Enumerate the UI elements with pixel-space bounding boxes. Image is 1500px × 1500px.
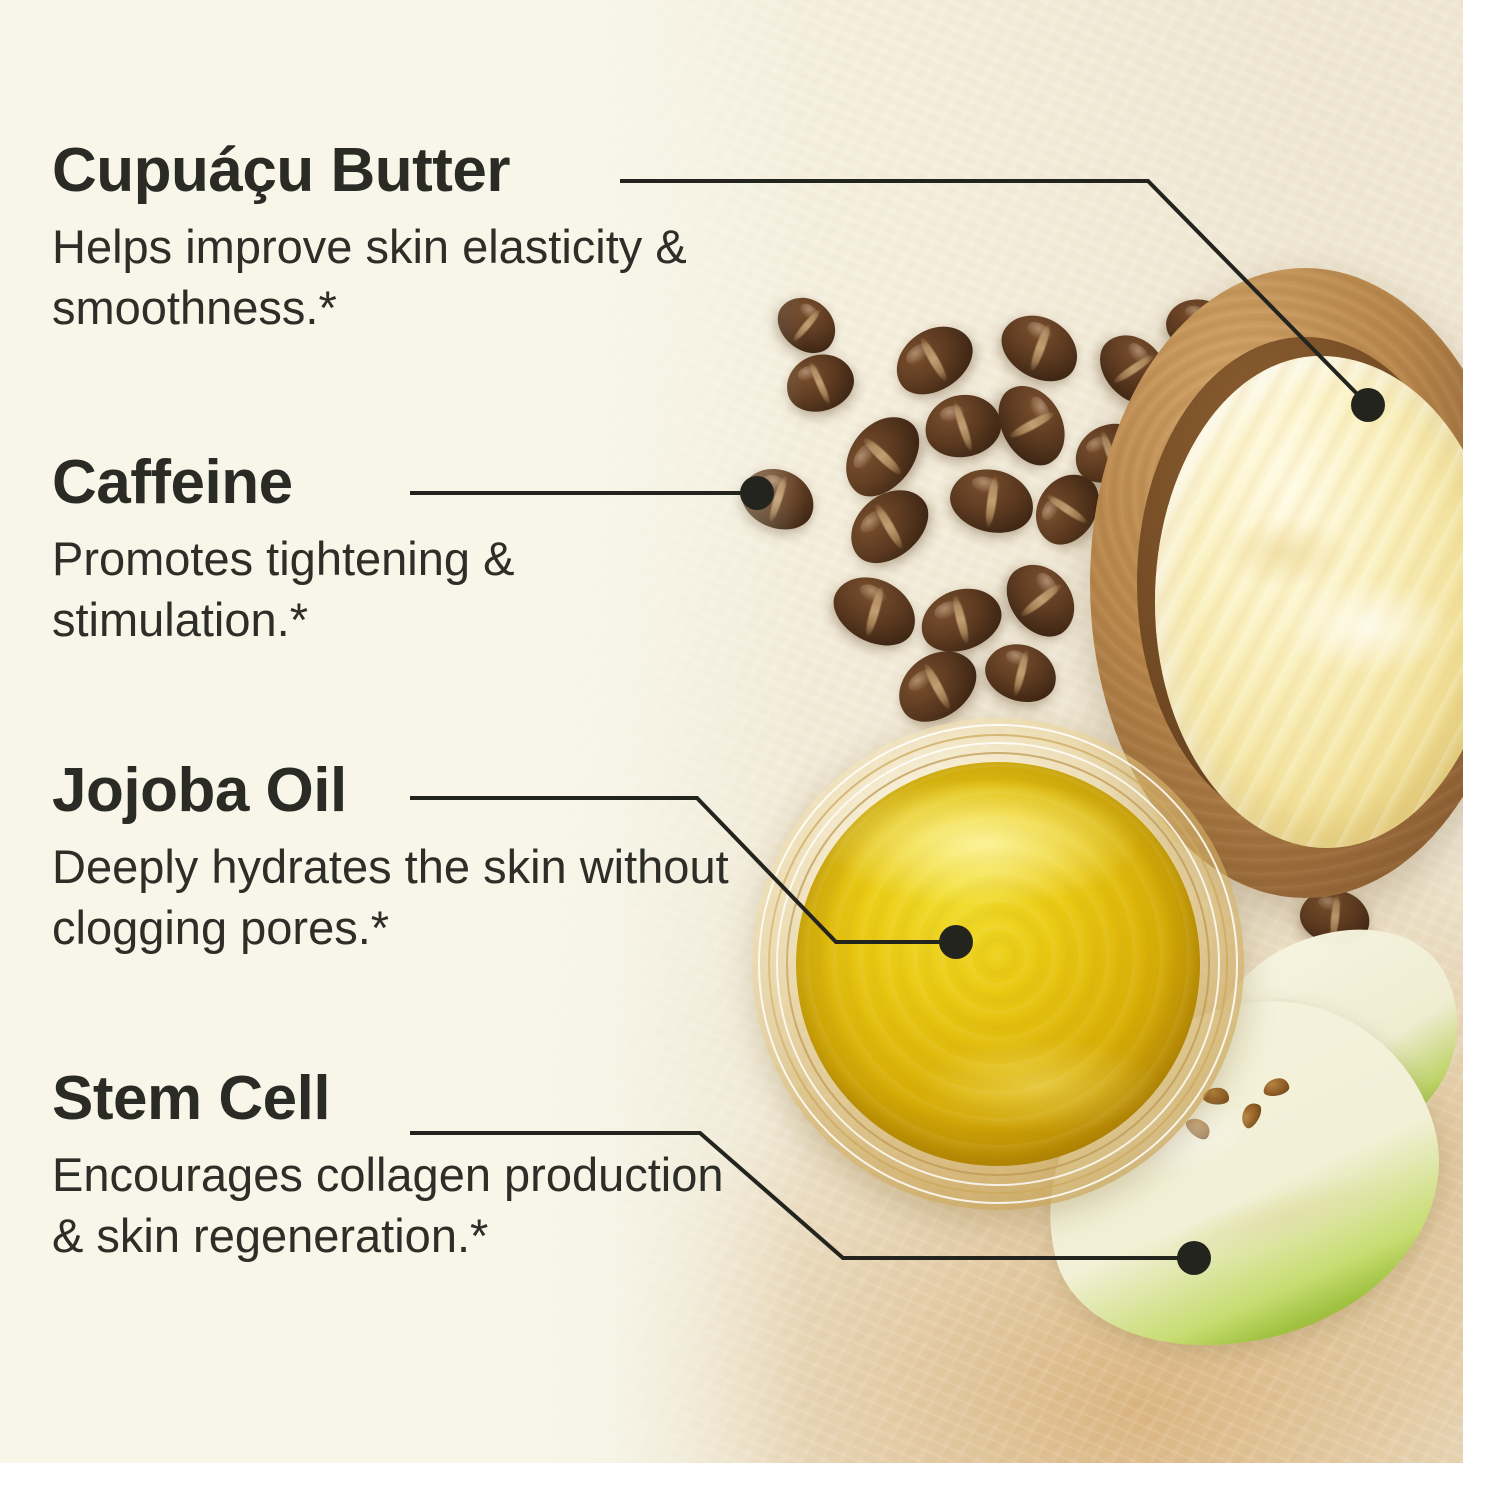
callout-title: Cupuáçu Butter <box>52 140 752 202</box>
callout-title: Caffeine <box>52 452 752 514</box>
infographic-canvas: Cupuáçu Butter Helps improve skin elasti… <box>0 0 1500 1500</box>
callout-jojoba-oil: Jojoba Oil Deeply hydrates the skin with… <box>52 760 752 958</box>
callout-cupuacu-butter: Cupuáçu Butter Helps improve skin elasti… <box>52 140 752 338</box>
callout-stem-cell: Stem Cell Encourages collagen production… <box>52 1068 752 1266</box>
callout-description: Promotes tightening & stimulation.* <box>52 528 752 650</box>
callout-description: Deeply hydrates the skin without cloggin… <box>52 836 752 958</box>
callout-description: Helps improve skin elasticity & smoothne… <box>52 216 752 338</box>
callout-title: Jojoba Oil <box>52 760 752 822</box>
callout-title: Stem Cell <box>52 1068 752 1130</box>
callout-description: Encourages collagen production & skin re… <box>52 1144 752 1266</box>
callout-caffeine: Caffeine Promotes tightening & stimulati… <box>52 452 752 650</box>
